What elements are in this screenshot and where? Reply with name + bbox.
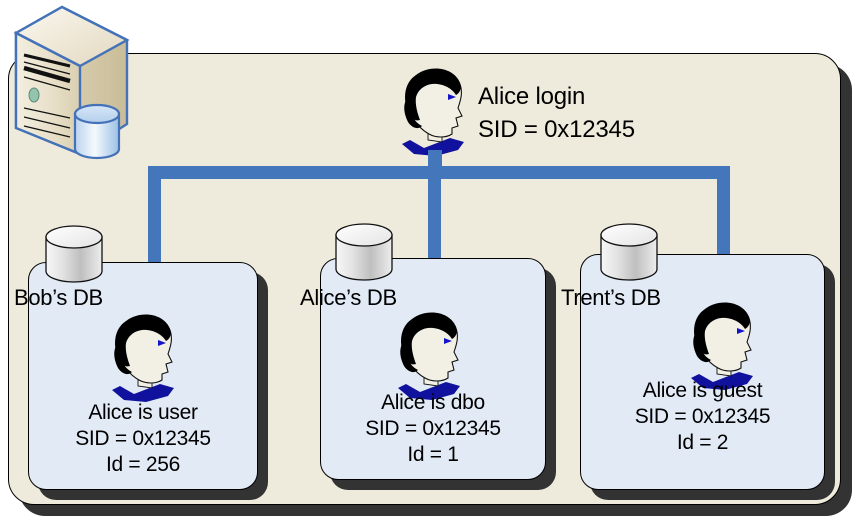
login-line-2: SID = 0x12345 [478,113,635,146]
login-person-head-icon [396,66,474,156]
login-caption: Alice login SID = 0x12345 [478,80,635,146]
db-caption-trent-line-2: SID = 0x12345 [580,404,825,430]
database-cylinder-icon-alice [330,222,398,284]
db-caption-alice-line-1: Alice is dbo [320,390,546,416]
database-cylinder-icon-bob [40,224,108,286]
db-caption-trent: Alice is guest SID = 0x12345 Id = 2 [580,378,825,456]
db-caption-alice-line-3: Id = 1 [320,442,546,468]
diagram-canvas: Alice login SID = 0x12345 [0,0,864,529]
person-head-icon-alice [392,310,470,400]
db-caption-trent-line-1: Alice is guest [580,378,825,404]
db-caption-bob-line-1: Alice is user [28,400,258,426]
db-caption-alice-line-2: SID = 0x12345 [320,416,546,442]
login-line-1: Alice login [478,80,635,113]
db-label-bob: Bob’s DB [14,285,103,311]
db-caption-bob-line-2: SID = 0x12345 [28,426,258,452]
server-tower-icon [2,4,137,164]
db-label-alice: Alice’s DB [300,285,397,311]
db-caption-trent-line-3: Id = 2 [580,430,825,456]
person-head-icon-trent [685,300,763,390]
db-caption-alice: Alice is dbo SID = 0x12345 Id = 1 [320,390,546,468]
database-cylinder-icon-trent [595,222,663,284]
person-head-icon-bob [106,312,184,402]
db-caption-bob: Alice is user SID = 0x12345 Id = 256 [28,400,258,478]
server-database-cylinder-icon [75,105,119,158]
db-caption-bob-line-3: Id = 256 [28,452,258,478]
db-label-trent: Trent’s DB [561,285,661,311]
